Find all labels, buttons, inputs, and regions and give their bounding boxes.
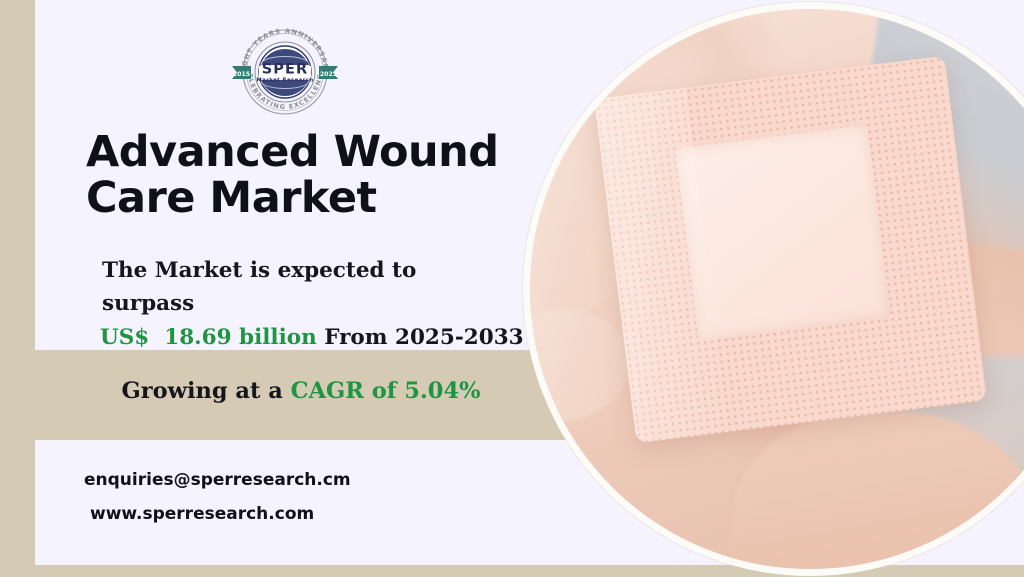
title-line-2: Care Market [86, 173, 377, 223]
badge-year-end: 2023 [320, 71, 337, 78]
market-period: From 2025-2033 [324, 325, 523, 350]
contact-website[interactable]: www.sperresearch.com [84, 497, 504, 531]
page-title: Advanced Wound Care Market [86, 129, 516, 221]
hero-photo-circle [523, 2, 1024, 576]
market-statement-lead: The Market is expected to surpass [86, 254, 506, 321]
market-statement-value-line: US$ 18.69 billion From 2025-2033 [86, 321, 506, 354]
wound-care-photo [530, 9, 1024, 569]
badge-tagline: Market Research [256, 78, 313, 84]
cagr-statement: Growing at a CAGR of 5.04% [86, 378, 516, 404]
cagr-prefix: Growing at a [122, 378, 283, 404]
market-currency: US$ [100, 325, 149, 350]
left-accent-strip [0, 0, 35, 577]
badge-wordmark: SPER [262, 62, 309, 78]
contact-block: enquiries@sperresearch.cm www.sperresear… [84, 463, 504, 531]
promotional-banner: EIGHT YEARS ANNIVERSARY CELEBRATING EXCE… [0, 0, 1024, 577]
registered-mark-icon: ® [306, 60, 311, 67]
cagr-metric: CAGR of 5.04% [291, 378, 481, 404]
title-line-1: Advanced Wound [86, 127, 499, 177]
badge-year-start: 2015 [233, 71, 250, 78]
sper-anniversary-badge-logo: EIGHT YEARS ANNIVERSARY CELEBRATING EXCE… [228, 24, 342, 116]
market-value: 18.69 billion [164, 325, 316, 350]
adhesive-dressing [594, 56, 986, 444]
contact-email[interactable]: enquiries@sperresearch.cm [84, 463, 504, 497]
market-statement: The Market is expected to surpass US$ 18… [86, 254, 506, 354]
